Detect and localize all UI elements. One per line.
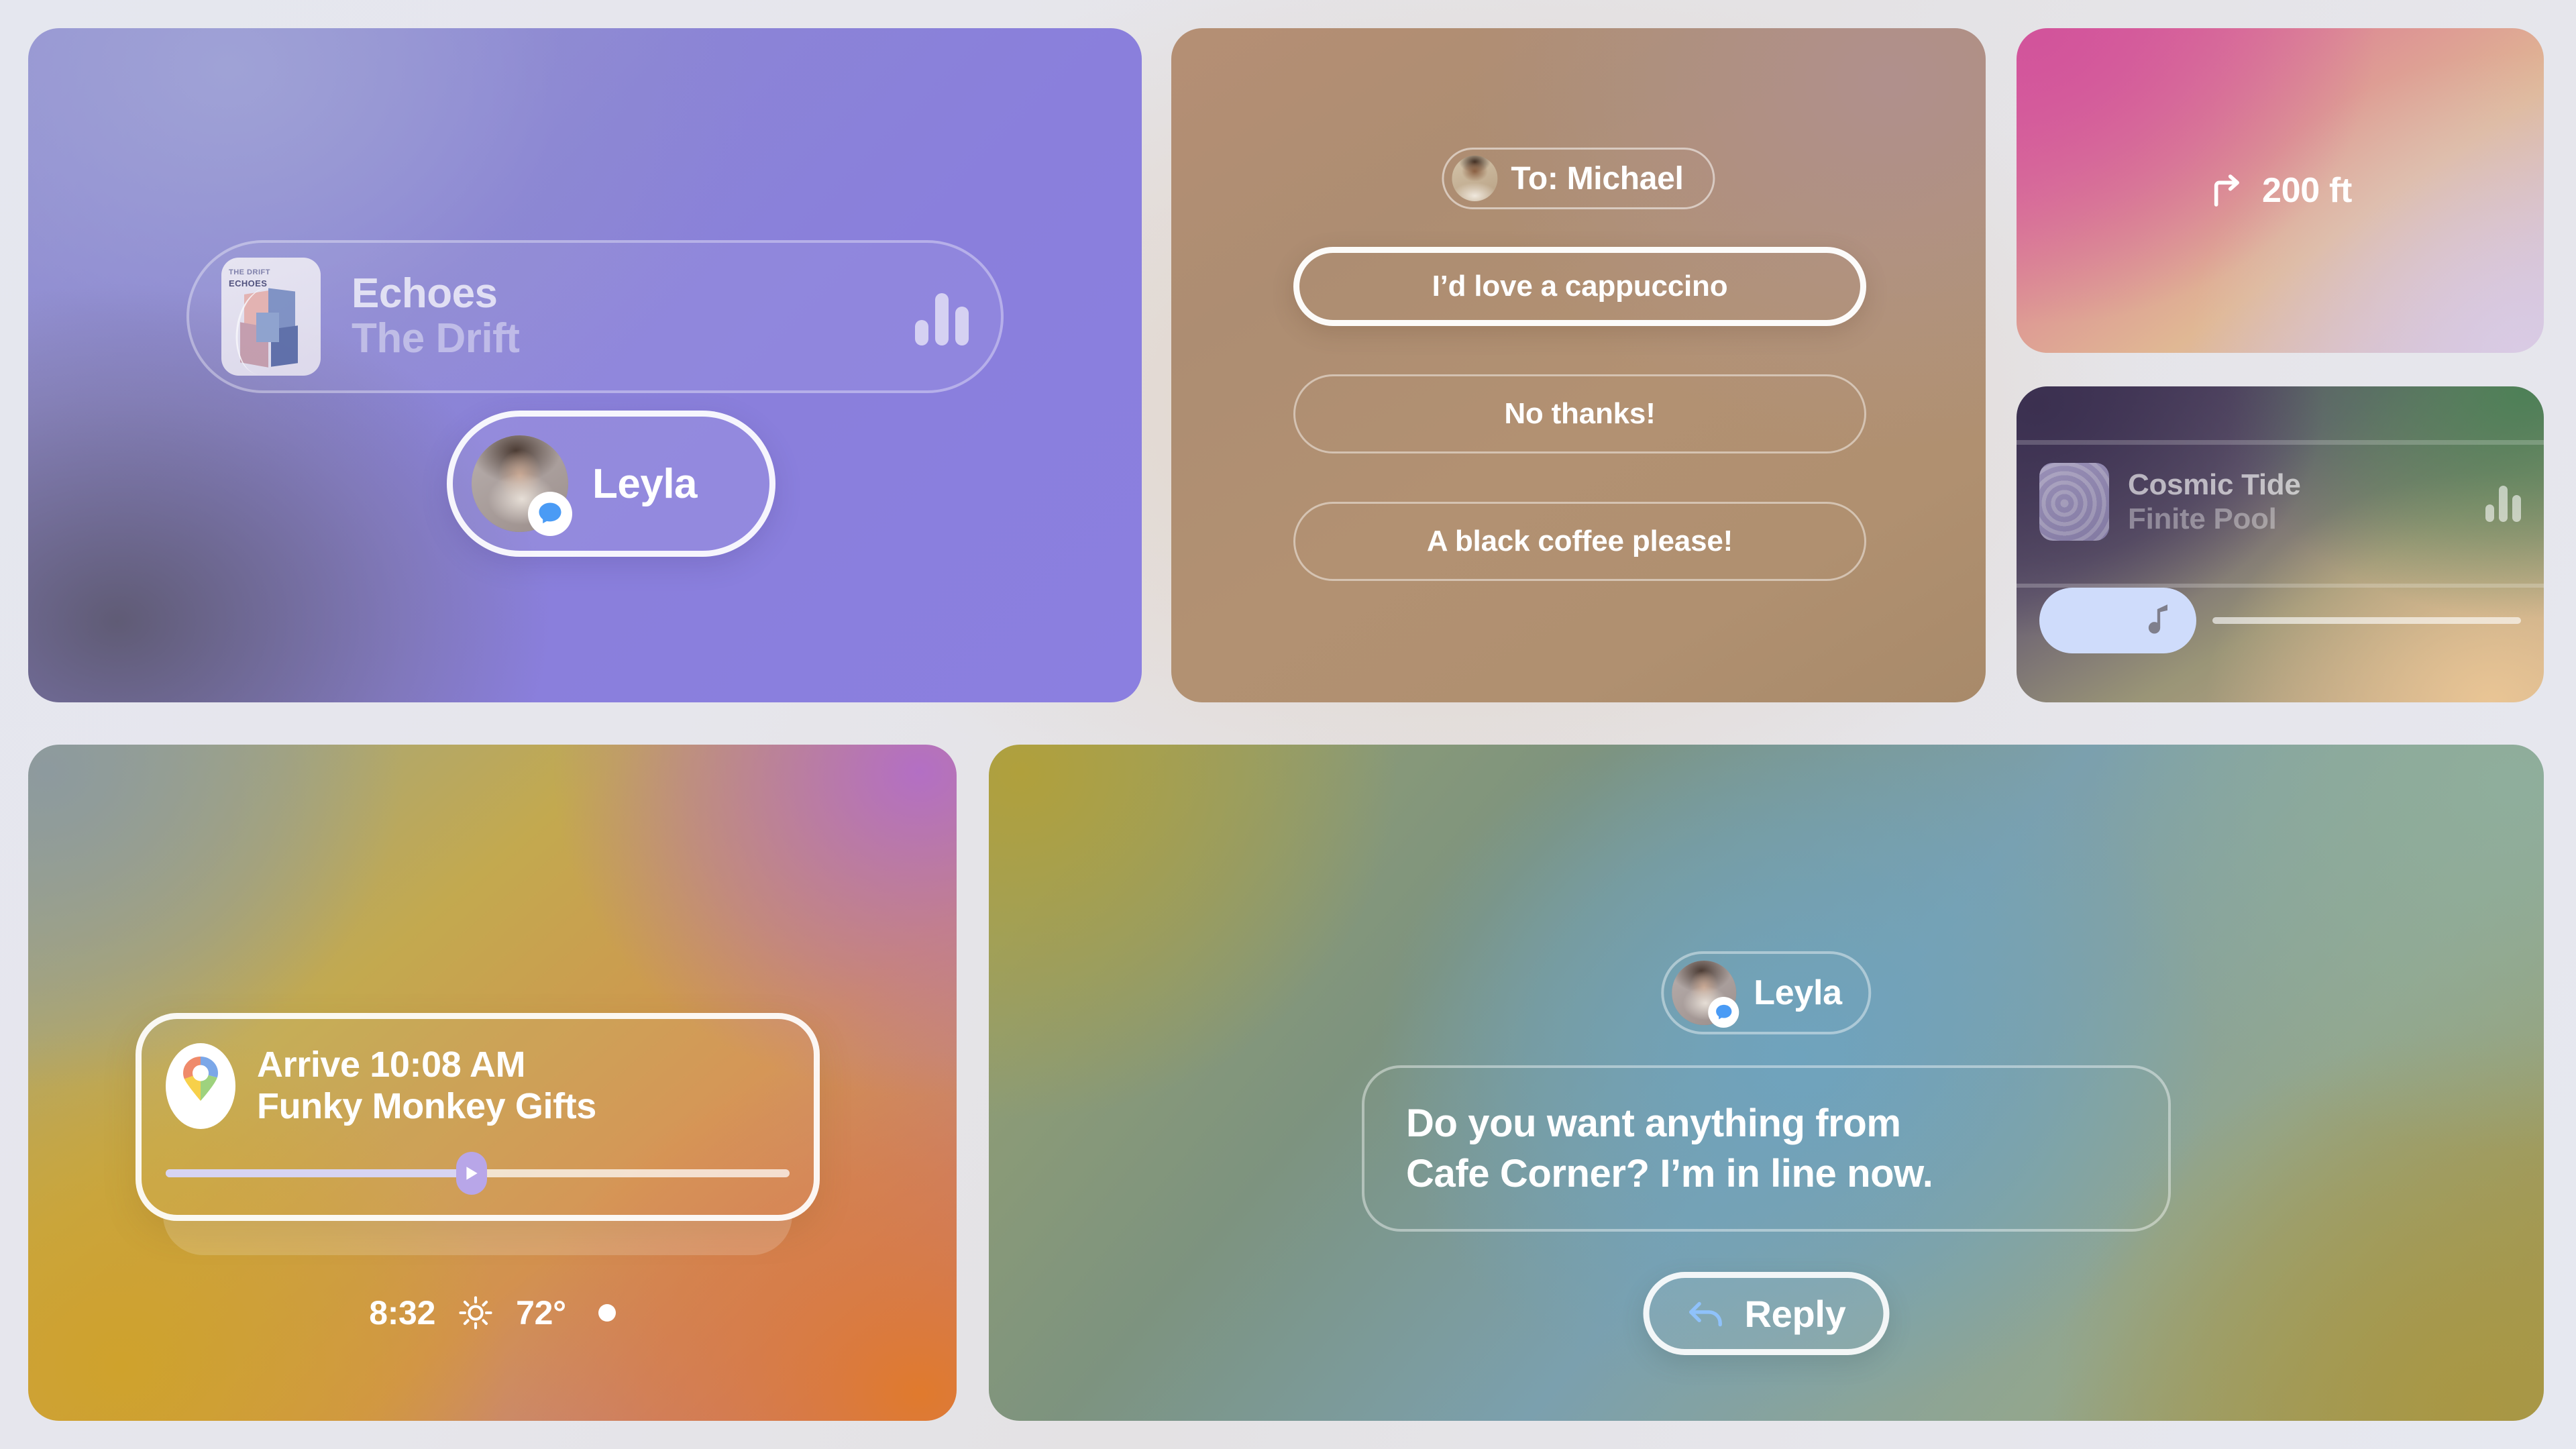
navigation-arrow-icon[interactable]: [456, 1152, 487, 1195]
status-time: 8:32: [369, 1293, 435, 1332]
recipient-pill[interactable]: To: Michael: [1442, 148, 1715, 209]
reply-option-2[interactable]: A black coffee please!: [1293, 502, 1866, 581]
arrival-meta: Arrive 10:08 AM Funky Monkey Gifts: [257, 1044, 596, 1127]
cosmic-progress-track[interactable]: [2212, 617, 2521, 624]
divider-top: [2017, 440, 2544, 445]
google-maps-pin-icon: [166, 1043, 235, 1129]
arrival-destination: Funky Monkey Gifts: [257, 1086, 596, 1128]
reply-arrow-icon: [1687, 1297, 1726, 1330]
route-progress-fill: [166, 1169, 472, 1177]
message-line-2: Cafe Corner? I’m in line now.: [1406, 1148, 1933, 1199]
turn-right-icon: [2208, 172, 2246, 209]
dot-icon: [598, 1304, 616, 1322]
navigation-distance: 200 ft: [2262, 170, 2352, 211]
card-cosmic-tide[interactable]: Cosmic Tide Finite Pool: [2017, 386, 2544, 702]
message-body: Do you want anything from Cafe Corner? I…: [1406, 1098, 1933, 1199]
sun-icon: [458, 1295, 493, 1330]
card-message[interactable]: Leyla Do you want anything from Cafe Cor…: [989, 745, 2544, 1421]
messages-badge-icon: [528, 492, 572, 536]
card-now-playing[interactable]: THE DRIFT ECHOES Echoes The Drift Leyla: [28, 28, 1142, 702]
music-note-pill[interactable]: [2039, 588, 2196, 653]
message-sender-pill[interactable]: Leyla: [1661, 951, 1871, 1034]
card-navigation-distance[interactable]: 200 ft: [2017, 28, 2544, 353]
message-bubble[interactable]: Do you want anything from Cafe Corner? I…: [1362, 1065, 2171, 1232]
message-line-1: Do you want anything from: [1406, 1098, 1933, 1148]
album-art-swirl: [2039, 463, 2109, 541]
widget-stage: THE DRIFT ECHOES Echoes The Drift Leyla: [0, 0, 2576, 1449]
track-title: Echoes: [352, 272, 519, 317]
track-meta: Echoes The Drift: [352, 272, 519, 362]
album-art-title-label: ECHOES: [229, 278, 267, 288]
arrival-time: Arrive 10:08 AM: [257, 1044, 596, 1086]
cosmic-tide-player[interactable]: [2039, 588, 2521, 653]
route-progress-slider[interactable]: [166, 1169, 790, 1177]
card-arrival[interactable]: Arrive 10:08 AM Funky Monkey Gifts 8:32 …: [28, 745, 957, 1421]
message-sender-name: Leyla: [1754, 973, 1841, 1013]
equalizer-icon: [915, 288, 969, 345]
cosmic-track-title: Cosmic Tide: [2128, 468, 2301, 502]
navigation-row: 200 ft: [2017, 170, 2544, 211]
album-art-artist-label: THE DRIFT: [229, 268, 270, 276]
equalizer-icon: [2485, 482, 2521, 522]
arrival-top: Arrive 10:08 AM Funky Monkey Gifts: [142, 1019, 814, 1129]
messages-badge-icon: [1708, 997, 1739, 1028]
cosmic-tide-meta: Cosmic Tide Finite Pool: [2128, 468, 2301, 536]
now-playing-pill[interactable]: THE DRIFT ECHOES Echoes The Drift: [186, 240, 1004, 393]
status-temperature: 72°: [516, 1293, 566, 1332]
cosmic-tide-body: Cosmic Tide Finite Pool: [2017, 463, 2544, 541]
arrival-panel[interactable]: Arrive 10:08 AM Funky Monkey Gifts: [136, 1013, 820, 1221]
track-artist: The Drift: [352, 317, 519, 362]
cosmic-track-artist: Finite Pool: [2128, 502, 2301, 536]
contact-name: Leyla: [592, 460, 697, 508]
avatar-leyla: [472, 435, 568, 532]
avatar-michael: [1452, 156, 1497, 201]
reply-option-1[interactable]: No thanks!: [1293, 374, 1866, 453]
reply-button[interactable]: Reply: [1644, 1272, 1890, 1355]
reply-option-0[interactable]: I’d love a cappuccino: [1293, 247, 1866, 326]
status-row: 8:32 72°: [28, 1293, 957, 1332]
recipient-label: To: Michael: [1511, 160, 1683, 197]
avatar-leyla: [1672, 961, 1736, 1025]
contact-pill-leyla[interactable]: Leyla: [447, 411, 775, 557]
music-note-icon: [2141, 601, 2176, 640]
reply-label: Reply: [1745, 1292, 1846, 1336]
album-art-echoes: THE DRIFT ECHOES: [221, 258, 321, 376]
card-reply-suggestions[interactable]: To: Michael I’d love a cappuccino No tha…: [1171, 28, 1986, 702]
